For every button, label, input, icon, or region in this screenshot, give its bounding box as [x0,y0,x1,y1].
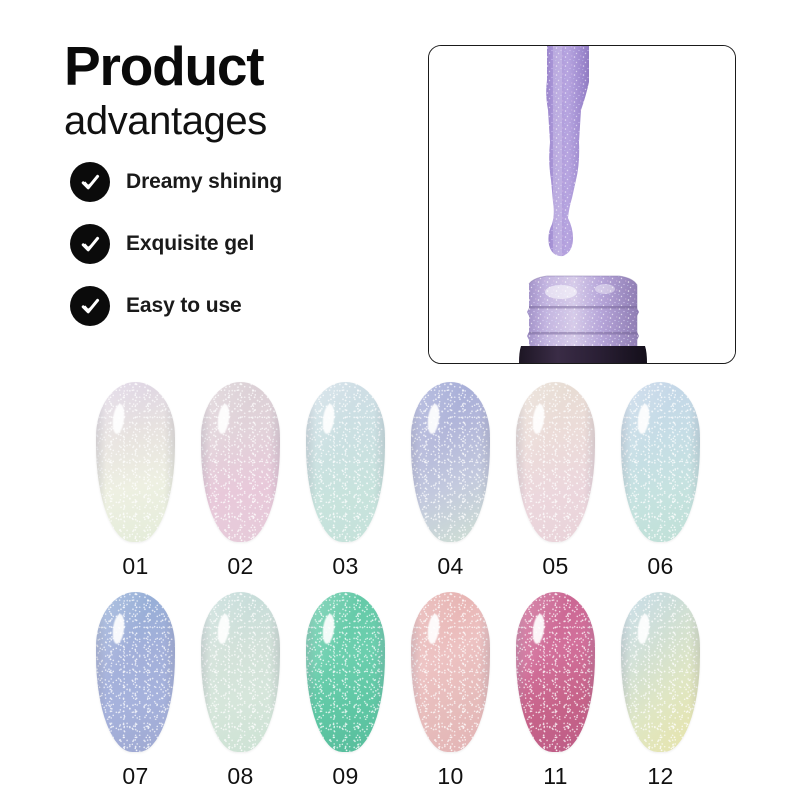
nail-swatch [516,382,595,542]
title-sub: advantages [64,98,404,144]
feature-label: Easy to use [126,294,242,318]
swatch-label: 09 [332,763,358,790]
feature-label: Dreamy shining [126,170,282,194]
swatch-08[interactable]: 08 [188,592,293,790]
swatch-label: 07 [122,763,148,790]
swatch-label: 01 [122,553,148,580]
swatch-row-1: 01 02 03 04 [0,382,800,580]
page-title: Product advantages [64,38,404,144]
nail-swatch [306,592,385,752]
swatch-label: 04 [437,553,463,580]
feature-item-dreamy-shining: Dreamy shining [70,162,410,202]
product-photo-frame [428,45,736,364]
swatch-label: 11 [543,763,567,790]
swatch-label: 06 [647,553,673,580]
swatch-05[interactable]: 05 [503,382,608,580]
swatch-label: 12 [647,763,673,790]
nail-swatch [621,382,700,542]
swatch-09[interactable]: 09 [293,592,398,790]
feature-list: Dreamy shining Exquisite gel Easy to use [70,162,410,326]
swatch-04[interactable]: 04 [398,382,503,580]
nail-swatch [201,592,280,752]
nail-swatch [621,592,700,752]
nail-swatch [411,382,490,542]
swatch-02[interactable]: 02 [188,382,293,580]
bottle-base [519,346,647,363]
swatch-03[interactable]: 03 [293,382,398,580]
swatch-label: 10 [437,763,463,790]
check-circle-icon [70,224,110,264]
title-main: Product [64,38,404,94]
feature-item-exquisite-gel: Exquisite gel [70,224,410,264]
nail-swatch [411,592,490,752]
check-circle-icon [70,162,110,202]
swatch-06[interactable]: 06 [608,382,713,580]
feature-label: Exquisite gel [126,232,254,256]
nail-swatch [306,382,385,542]
nail-swatch [201,382,280,542]
nail-gel-bottle-drip-photo [429,46,735,363]
swatch-row-2: 07 08 09 10 [0,592,800,790]
swatch-11[interactable]: 11 [503,592,608,790]
swatch-01[interactable]: 01 [83,382,188,580]
nail-swatch [96,592,175,752]
nail-swatch [516,592,595,752]
check-circle-icon [70,286,110,326]
swatch-label: 05 [542,553,568,580]
swatch-07[interactable]: 07 [83,592,188,790]
swatch-label: 08 [227,763,253,790]
swatch-10[interactable]: 10 [398,592,503,790]
swatch-12[interactable]: 12 [608,592,713,790]
nail-swatch [96,382,175,542]
swatch-label: 02 [227,553,253,580]
feature-item-easy-to-use: Easy to use [70,286,410,326]
swatch-label: 03 [332,553,358,580]
